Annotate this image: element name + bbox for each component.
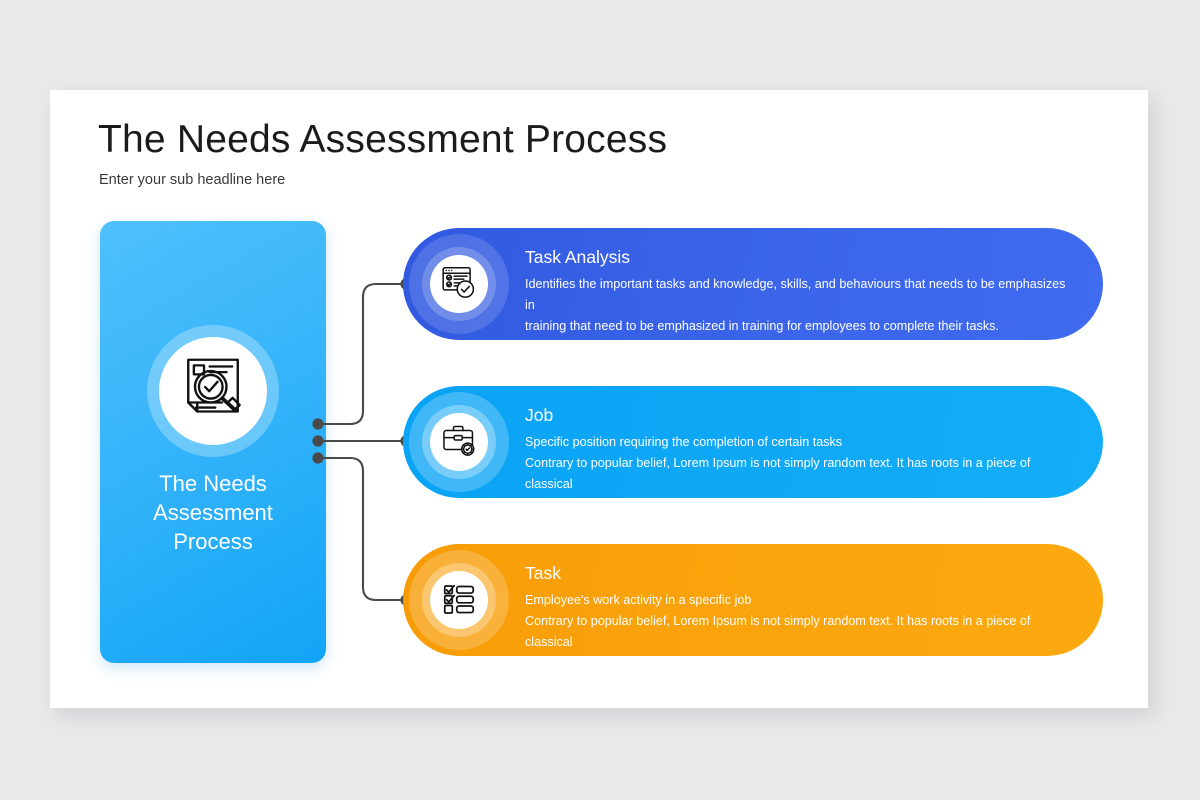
slide-canvas: The Needs Assessment Process Enter your … bbox=[50, 90, 1148, 708]
info-row-job[interactable]: Job Specific position requiring the comp… bbox=[403, 386, 1103, 498]
row-description-line: training that need to be emphasized in t… bbox=[525, 316, 1077, 337]
row-description: Specific position requiring the completi… bbox=[525, 432, 1077, 495]
hero-panel[interactable]: The Needs Assessment Process bbox=[100, 221, 326, 663]
row-description-line: Contrary to popular belief, Lorem Ipsum … bbox=[525, 611, 1077, 653]
row-description-line: Identifies the important tasks and knowl… bbox=[525, 274, 1077, 316]
row-description: Identifies the important tasks and knowl… bbox=[525, 274, 1077, 337]
row-badge-outer bbox=[409, 392, 509, 492]
slide-stage: The Needs Assessment Process Enter your … bbox=[0, 0, 1200, 800]
row-text-block: Task Analysis Identifies the important t… bbox=[525, 246, 1077, 337]
row-badge-middle bbox=[422, 405, 496, 479]
row-badge-middle bbox=[422, 563, 496, 637]
hero-icon-disc bbox=[159, 337, 267, 445]
row-badge-disc bbox=[430, 255, 488, 313]
row-text-block: Job Specific position requiring the comp… bbox=[525, 404, 1077, 495]
row-title: Task bbox=[525, 562, 1077, 584]
row-description: Employee's work activity in a specific j… bbox=[525, 590, 1077, 653]
page-subtitle: Enter your sub headline here bbox=[99, 172, 285, 188]
row-badge-outer bbox=[409, 550, 509, 650]
page-title: The Needs Assessment Process bbox=[98, 118, 667, 162]
checklist-window-check-icon bbox=[440, 263, 478, 306]
hero-icon-ring bbox=[147, 325, 279, 457]
info-row-task-analysis[interactable]: Task Analysis Identifies the important t… bbox=[403, 228, 1103, 340]
row-badge-disc bbox=[430, 571, 488, 629]
checkbox-list-icon bbox=[441, 580, 477, 621]
row-badge-disc bbox=[430, 413, 488, 471]
row-description-line: Contrary to popular belief, Lorem Ipsum … bbox=[525, 453, 1077, 495]
row-title: Job bbox=[525, 404, 1077, 426]
hero-label: The Needs Assessment Process bbox=[100, 469, 326, 556]
briefcase-badge-icon bbox=[440, 421, 478, 464]
row-description-line: Specific position requiring the completi… bbox=[525, 432, 1077, 453]
row-badge-middle bbox=[422, 247, 496, 321]
document-magnifier-check-icon bbox=[177, 353, 249, 430]
row-description-line: Employee's work activity in a specific j… bbox=[525, 590, 1077, 611]
row-badge-outer bbox=[409, 234, 509, 334]
row-text-block: Task Employee's work activity in a speci… bbox=[525, 562, 1077, 653]
row-title: Task Analysis bbox=[525, 246, 1077, 268]
info-row-task[interactable]: Task Employee's work activity in a speci… bbox=[403, 544, 1103, 656]
